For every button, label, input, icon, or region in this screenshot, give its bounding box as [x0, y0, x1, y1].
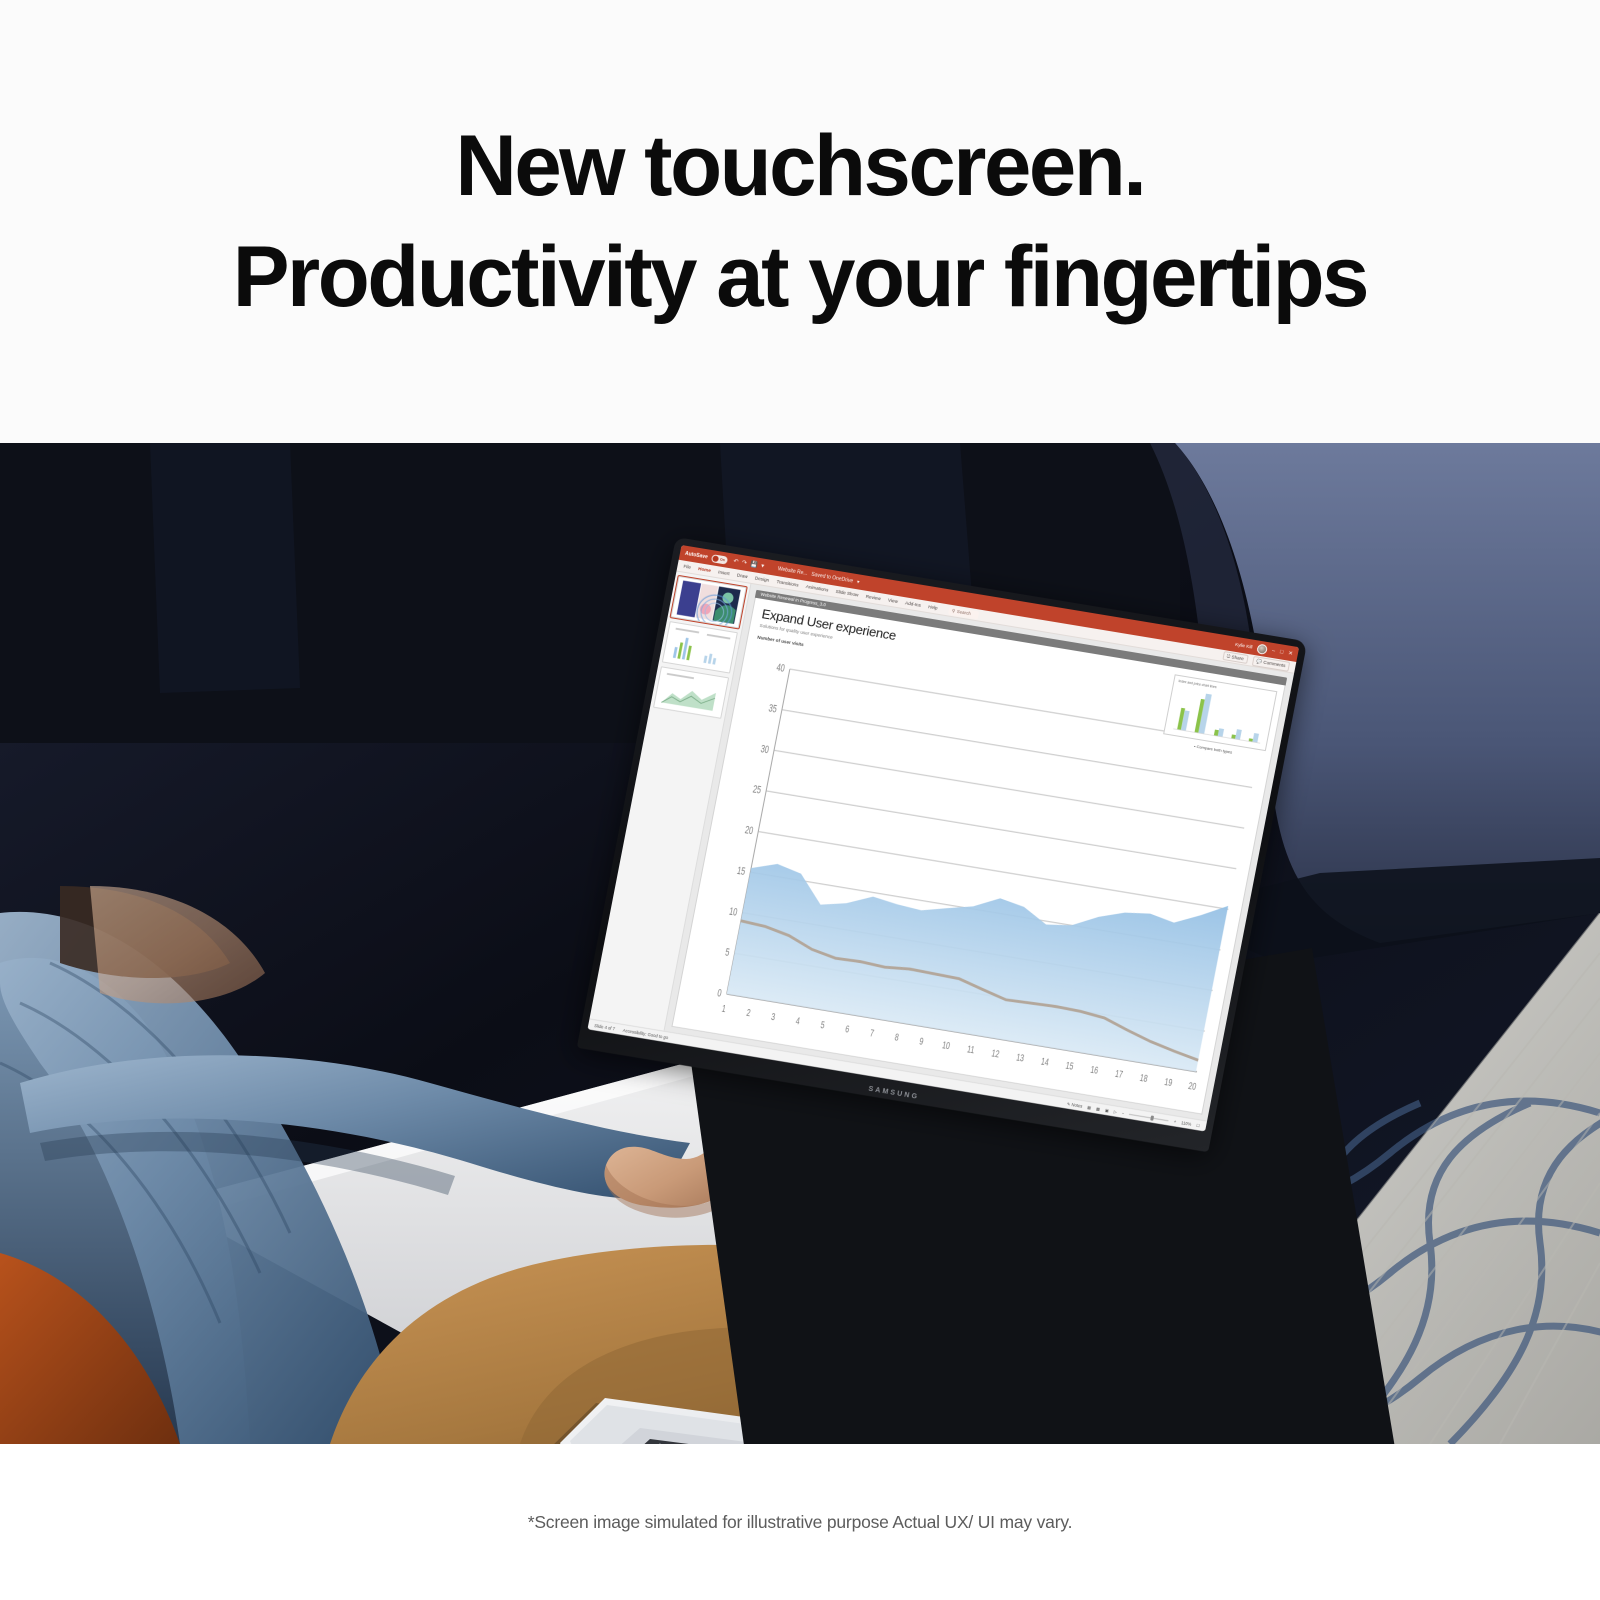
svg-text:15: 15	[1065, 1059, 1075, 1072]
svg-text:13: 13	[1015, 1051, 1025, 1064]
series-user-visits	[727, 828, 1229, 1071]
thumbnail-preview	[672, 577, 746, 627]
svg-text:5: 5	[820, 1019, 826, 1031]
powerpoint-window: AutoSave On ↶ ↷ 💾 ▾ Website Re...	[587, 545, 1299, 1131]
svg-text:3: 3	[770, 1011, 776, 1023]
headline-block: New touchscreen. Productivity at your fi…	[0, 0, 1600, 443]
headline-line-1: New touchscreen.	[455, 118, 1144, 214]
svg-text:4: 4	[795, 1015, 801, 1027]
footnote-block: *Screen image simulated for illustrative…	[0, 1444, 1600, 1600]
comment-icon: 💬	[1256, 658, 1263, 664]
zoom-in-button[interactable]: +	[1173, 1119, 1176, 1124]
svg-text:18: 18	[1139, 1072, 1149, 1085]
tab-add-ins[interactable]: Add-Ins	[905, 600, 922, 607]
comments-label: Comments	[1263, 659, 1286, 668]
normal-view-icon[interactable]: ▦	[1087, 1104, 1092, 1110]
slide-sorter-icon[interactable]: ▩	[1096, 1106, 1101, 1112]
headline-line-2: Productivity at your fingertips	[233, 222, 1367, 332]
tab-home[interactable]: Home	[698, 566, 712, 573]
save-icon[interactable]: 💾	[750, 561, 759, 569]
notes-button[interactable]: ✎ Notes	[1067, 1101, 1083, 1108]
svg-text:5: 5	[724, 947, 730, 959]
slide-stage: Website Renewal in Progress_3.0 Expand U…	[665, 584, 1294, 1121]
tab-view[interactable]: View	[888, 598, 899, 605]
svg-text:12: 12	[991, 1047, 1001, 1060]
svg-text:10: 10	[728, 905, 738, 918]
avatar[interactable]	[1256, 643, 1268, 654]
callout-card: Index and price chart lines	[1163, 674, 1277, 751]
svg-text:14: 14	[1040, 1055, 1050, 1068]
tab-transitions[interactable]: Transitions	[776, 579, 799, 588]
autosave-state: On	[720, 557, 725, 562]
window-controls: – □ ✕	[1272, 647, 1294, 656]
zoom-level[interactable]: 110%	[1181, 1120, 1192, 1127]
search-placeholder: Search	[957, 609, 972, 616]
svg-text:30: 30	[760, 743, 770, 756]
user-name: Kylie Kill	[1235, 642, 1253, 650]
slide-canvas[interactable]: Expand User experience Solutions for qua…	[671, 597, 1285, 1114]
slide-counter[interactable]: Slide 4 of 7	[594, 1023, 616, 1031]
tab-insert[interactable]: Insert	[718, 569, 730, 576]
svg-text:19: 19	[1164, 1076, 1174, 1089]
svg-text:9: 9	[918, 1035, 924, 1047]
svg-text:25: 25	[752, 784, 762, 797]
svg-text:17: 17	[1114, 1068, 1124, 1081]
page-title: New touchscreen. Productivity at your fi…	[233, 111, 1367, 331]
lifestyle-photo: AutoSave On ↶ ↷ 💾 ▾ Website Re...	[0, 443, 1600, 1444]
disclaimer-text: *Screen image simulated for illustrative…	[528, 1512, 1073, 1533]
svg-text:10: 10	[941, 1039, 951, 1052]
share-icon: ⎋	[1226, 654, 1231, 660]
svg-text:7: 7	[869, 1027, 875, 1039]
zoom-slider[interactable]	[1129, 1113, 1169, 1121]
svg-text:1: 1	[721, 1002, 727, 1014]
zoom-slider-handle[interactable]	[1151, 1115, 1155, 1120]
close-button[interactable]: ✕	[1288, 650, 1294, 657]
quick-access-toolbar: ↶ ↷ 💾 ▾	[733, 558, 765, 570]
laptop-display: AutoSave On ↶ ↷ 💾 ▾ Website Re...	[577, 537, 1308, 1152]
tab-draw[interactable]: Draw	[737, 573, 749, 580]
search-icon: ⚲	[951, 608, 955, 614]
svg-text:6: 6	[844, 1023, 850, 1035]
svg-text:16: 16	[1089, 1063, 1099, 1076]
chevron-down-icon[interactable]: ▾	[856, 579, 860, 585]
svg-text:0: 0	[716, 987, 722, 999]
document-name: Website Re...	[777, 566, 808, 577]
display-bezel: AutoSave On ↶ ↷ 💾 ▾ Website Re...	[577, 537, 1308, 1152]
svg-text:11: 11	[966, 1043, 975, 1056]
maximize-button[interactable]: □	[1279, 649, 1283, 655]
tab-design[interactable]: Design	[755, 575, 770, 582]
tab-file[interactable]: File	[683, 564, 691, 570]
chevron-down-icon[interactable]: ▾	[760, 562, 764, 569]
reading-view-icon[interactable]: ▣	[1105, 1107, 1110, 1113]
redo-icon[interactable]: ↷	[741, 559, 747, 567]
slide-thumbnail[interactable]: 4	[671, 576, 747, 629]
svg-text:15: 15	[736, 865, 746, 878]
slide-show-icon[interactable]: ▷	[1113, 1109, 1117, 1114]
autosave-toggle[interactable]: On	[711, 554, 728, 564]
svg-text:40: 40	[776, 662, 786, 675]
thumbnail-preview	[654, 667, 728, 717]
svg-text:8: 8	[894, 1031, 900, 1043]
minimize-button[interactable]: –	[1272, 647, 1276, 653]
tab-review[interactable]: Review	[865, 594, 881, 601]
thumbnail-preview	[663, 622, 737, 672]
svg-text:20: 20	[1187, 1080, 1197, 1093]
tab-animations[interactable]: Animations	[805, 584, 828, 593]
tab-help[interactable]: Help	[928, 604, 938, 610]
autosave-label: AutoSave	[684, 550, 708, 560]
svg-text:20: 20	[744, 824, 754, 837]
zoom-out-button[interactable]: −	[1122, 1110, 1125, 1115]
slide-thumbnail[interactable]: 5	[662, 621, 738, 674]
svg-text:35: 35	[768, 702, 778, 715]
fit-slide-icon[interactable]: ☐	[1196, 1122, 1201, 1128]
tab-slide-show[interactable]: Slide Show	[835, 589, 859, 598]
share-label: Share	[1231, 654, 1244, 661]
undo-icon[interactable]: ↶	[733, 558, 739, 566]
toggle-knob	[712, 555, 719, 562]
svg-text:2: 2	[746, 1007, 752, 1019]
notes-label: Notes	[1071, 1102, 1083, 1109]
promo-page: New touchscreen. Productivity at your fi…	[0, 0, 1600, 1600]
slide-thumbnail[interactable]: 6	[653, 666, 729, 719]
